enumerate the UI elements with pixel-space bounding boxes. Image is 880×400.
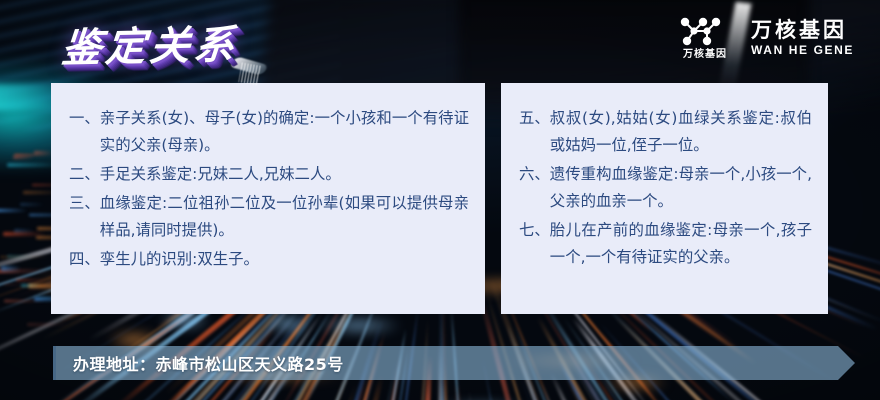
list-item: 三、血缘鉴定:二位祖孙二位及一位孙辈(如果可以提供母亲样品,请同时提供)。 xyxy=(69,190,469,244)
page-title: 鉴定关系 xyxy=(59,12,240,74)
address-bar: 办理地址：赤峰市松山区天义路25号 xyxy=(53,346,855,380)
list-item-text: 血缘鉴定:二位祖孙二位及一位孙辈(如果可以提供母亲样品,请同时提供)。 xyxy=(100,190,469,244)
list-item-number: 三、 xyxy=(69,190,100,244)
title-light-streak-icon xyxy=(238,62,261,85)
list-item: 二、手足关系鉴定:兄妹二人,兄妹二人。 xyxy=(69,161,469,188)
list-item-number: 四、 xyxy=(69,246,100,273)
list-item-number: 六、 xyxy=(519,161,550,215)
info-panel-right: 五、叔叔(女),姑姑(女)血绿关系鉴定:叔伯或姑妈一位,侄子一位。六、遗传重构血… xyxy=(501,83,828,314)
list-item-text: 手足关系鉴定:兄妹二人,兄妹二人。 xyxy=(100,161,469,188)
brand-logo: 万核基因 万核基因 WAN HE GENE xyxy=(677,16,854,60)
list-item: 七、胎儿在产前的血缘鉴定:母亲一个,孩子一个,一个有待证实的父亲。 xyxy=(519,217,812,271)
poster-root: 鉴定关系 xyxy=(0,0,880,400)
logo-wordmark: 万核基因 WAN HE GENE xyxy=(751,20,854,56)
molecule-icon xyxy=(677,16,733,48)
list-item-number: 二、 xyxy=(69,161,100,188)
info-panel-left: 一、亲子关系(女)、母子(女)的确定:一个小孩和一个有待证实的父亲(母亲)。二、… xyxy=(51,83,485,314)
logo-mark: 万核基因 xyxy=(677,16,733,60)
list-item: 四、孪生儿的识别:双生子。 xyxy=(69,246,469,273)
list-item: 六、遗传重构血缘鉴定:母亲一个,小孩一个,父亲的血亲一个。 xyxy=(519,161,812,215)
logo-name-en: WAN HE GENE xyxy=(751,44,854,56)
logo-mark-label: 万核基因 xyxy=(683,50,727,60)
list-item-number: 七、 xyxy=(519,217,550,271)
address-bar-left-edge xyxy=(53,346,56,380)
list-item-text: 孪生儿的识别:双生子。 xyxy=(100,246,469,273)
list-item-number: 一、 xyxy=(69,105,100,159)
list-item: 五、叔叔(女),姑姑(女)血绿关系鉴定:叔伯或姑妈一位,侄子一位。 xyxy=(519,105,812,159)
list-item: 一、亲子关系(女)、母子(女)的确定:一个小孩和一个有待证实的父亲(母亲)。 xyxy=(69,105,469,159)
list-item-number: 五、 xyxy=(519,105,550,159)
address-text: 办理地址：赤峰市松山区天义路25号 xyxy=(73,351,344,375)
list-item-text: 遗传重构血缘鉴定:母亲一个,小孩一个,父亲的血亲一个。 xyxy=(550,161,812,215)
list-item-text: 叔叔(女),姑姑(女)血绿关系鉴定:叔伯或姑妈一位,侄子一位。 xyxy=(550,105,812,159)
list-item-text: 胎儿在产前的血缘鉴定:母亲一个,孩子一个,一个有待证实的父亲。 xyxy=(550,217,812,271)
list-item-text: 亲子关系(女)、母子(女)的确定:一个小孩和一个有待证实的父亲(母亲)。 xyxy=(100,105,469,159)
logo-name-cn: 万核基因 xyxy=(751,20,854,42)
